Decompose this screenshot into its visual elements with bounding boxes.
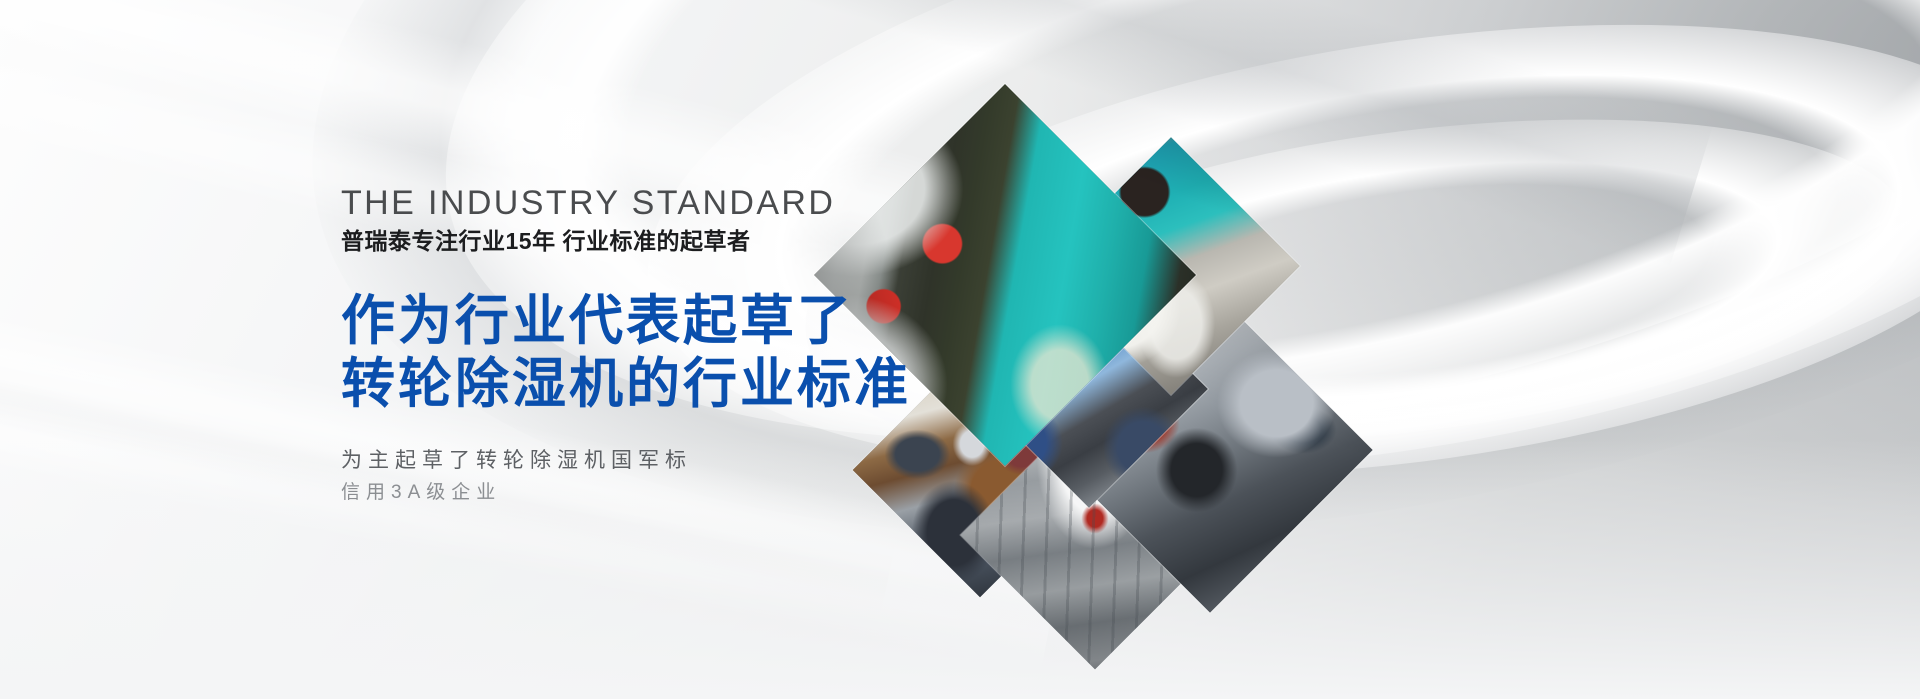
eyebrow-chinese: 普瑞泰专注行业15年 行业标准的起草者 (341, 228, 911, 256)
headline-line-2: 转轮除湿机的行业标准 (341, 353, 911, 417)
sub-line-1: 为主起草了转轮除湿机国军标 (341, 445, 911, 478)
headline: 作为行业代表起草了 转轮除湿机的行业标准 (341, 290, 911, 417)
sub-line-2: 信用3A级企业 (341, 478, 911, 507)
diamond-photo-collage (830, 80, 1530, 640)
sub-line-list: 为主起草了转轮除湿机国军标 信用3A级企业 (341, 445, 911, 507)
eyebrow-english: THE INDUSTRY STANDARD (341, 186, 911, 220)
hero-banner: THE INDUSTRY STANDARD 普瑞泰专注行业15年 行业标准的起草… (0, 0, 1920, 699)
banner-text-block: THE INDUSTRY STANDARD 普瑞泰专注行业15年 行业标准的起草… (341, 186, 911, 507)
headline-line-1: 作为行业代表起草了 (341, 290, 911, 354)
